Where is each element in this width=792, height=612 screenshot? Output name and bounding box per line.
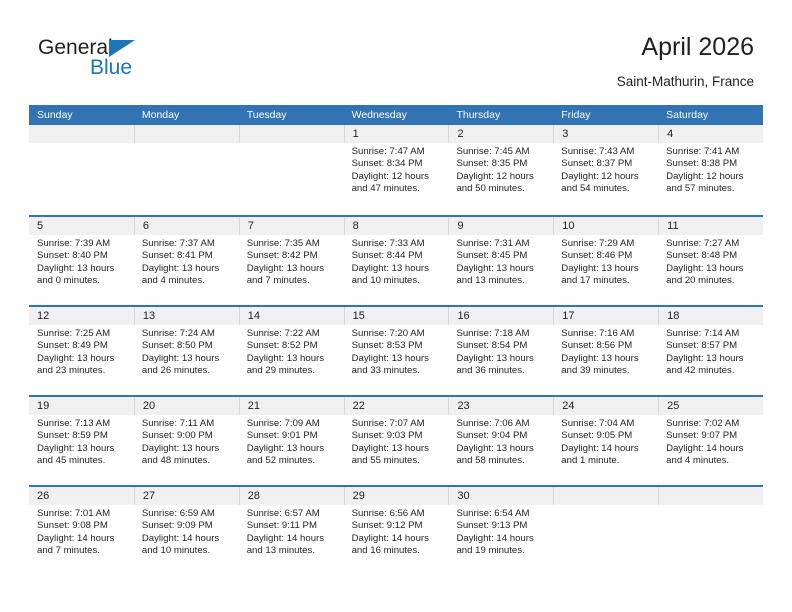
sunrise-text: Sunrise: 7:11 AM: [142, 418, 233, 430]
sunrise-text: Sunrise: 7:31 AM: [456, 238, 547, 250]
calendar-week-row: 12Sunrise: 7:25 AMSunset: 8:49 PMDayligh…: [29, 305, 763, 395]
calendar-day-cell-empty: [553, 487, 658, 575]
day-details: Sunrise: 7:25 AMSunset: 8:49 PMDaylight:…: [29, 325, 134, 378]
sunset-text: Sunset: 8:45 PM: [456, 250, 547, 262]
sunset-text: Sunset: 9:05 PM: [561, 430, 652, 442]
day-number: 30: [448, 487, 553, 505]
sunrise-text: Sunrise: 7:18 AM: [456, 328, 547, 340]
dow-saturday: Saturday: [658, 105, 763, 125]
sunrise-text: Sunrise: 7:20 AM: [352, 328, 443, 340]
day-details: Sunrise: 6:54 AMSunset: 9:13 PMDaylight:…: [448, 505, 553, 558]
page-title: April 2026: [641, 33, 754, 62]
sunrise-text: Sunrise: 7:41 AM: [666, 146, 757, 158]
daylight-text: Daylight: 14 hours and 16 minutes.: [352, 533, 443, 558]
day-details: Sunrise: 7:01 AMSunset: 9:08 PMDaylight:…: [29, 505, 134, 558]
sunset-text: Sunset: 9:12 PM: [352, 520, 443, 532]
sunset-text: Sunset: 8:44 PM: [352, 250, 443, 262]
daylight-text: Daylight: 14 hours and 19 minutes.: [456, 533, 547, 558]
calendar-day-cell[interactable]: 11Sunrise: 7:27 AMSunset: 8:48 PMDayligh…: [658, 217, 763, 305]
daylight-text: Daylight: 13 hours and 23 minutes.: [37, 353, 128, 378]
calendar-day-cell[interactable]: 20Sunrise: 7:11 AMSunset: 9:00 PMDayligh…: [134, 397, 239, 485]
daylight-text: Daylight: 13 hours and 52 minutes.: [247, 443, 338, 468]
dow-thursday: Thursday: [448, 105, 553, 125]
sunrise-text: Sunrise: 6:54 AM: [456, 508, 547, 520]
calendar-day-cell[interactable]: 23Sunrise: 7:06 AMSunset: 9:04 PMDayligh…: [448, 397, 553, 485]
sunrise-text: Sunrise: 7:35 AM: [247, 238, 338, 250]
day-number: 16: [448, 307, 553, 325]
daylight-text: Daylight: 13 hours and 55 minutes.: [352, 443, 443, 468]
calendar-day-cell-empty: [29, 125, 134, 215]
calendar-day-cell[interactable]: 7Sunrise: 7:35 AMSunset: 8:42 PMDaylight…: [239, 217, 344, 305]
sunrise-text: Sunrise: 7:13 AM: [37, 418, 128, 430]
day-number: 23: [448, 397, 553, 415]
day-details: Sunrise: 7:45 AMSunset: 8:35 PMDaylight:…: [448, 143, 553, 196]
day-number: 25: [658, 397, 763, 415]
day-number: 9: [448, 217, 553, 235]
day-details: Sunrise: 7:18 AMSunset: 8:54 PMDaylight:…: [448, 325, 553, 378]
day-details: Sunrise: 7:22 AMSunset: 8:52 PMDaylight:…: [239, 325, 344, 378]
day-number: 2: [448, 125, 553, 143]
calendar-day-cell[interactable]: 27Sunrise: 6:59 AMSunset: 9:09 PMDayligh…: [134, 487, 239, 575]
calendar-day-cell[interactable]: 19Sunrise: 7:13 AMSunset: 8:59 PMDayligh…: [29, 397, 134, 485]
day-details: Sunrise: 7:47 AMSunset: 8:34 PMDaylight:…: [344, 143, 449, 196]
day-number: 11: [658, 217, 763, 235]
sunrise-text: Sunrise: 7:33 AM: [352, 238, 443, 250]
day-number: 27: [134, 487, 239, 505]
daylight-text: Daylight: 13 hours and 10 minutes.: [352, 263, 443, 288]
calendar-day-cell[interactable]: 6Sunrise: 7:37 AMSunset: 8:41 PMDaylight…: [134, 217, 239, 305]
daylight-text: Daylight: 13 hours and 20 minutes.: [666, 263, 757, 288]
day-details: Sunrise: 7:02 AMSunset: 9:07 PMDaylight:…: [658, 415, 763, 468]
calendar-day-cell[interactable]: 21Sunrise: 7:09 AMSunset: 9:01 PMDayligh…: [239, 397, 344, 485]
day-number: 3: [553, 125, 658, 143]
sunset-text: Sunset: 8:59 PM: [37, 430, 128, 442]
daylight-text: Daylight: 13 hours and 39 minutes.: [561, 353, 652, 378]
sunrise-text: Sunrise: 7:24 AM: [142, 328, 233, 340]
sunrise-text: Sunrise: 7:16 AM: [561, 328, 652, 340]
sunrise-text: Sunrise: 7:07 AM: [352, 418, 443, 430]
sunset-text: Sunset: 8:46 PM: [561, 250, 652, 262]
day-number: [553, 487, 658, 505]
day-details: Sunrise: 7:41 AMSunset: 8:38 PMDaylight:…: [658, 143, 763, 196]
calendar-page: General Blue April 2026 Saint-Mathurin, …: [0, 0, 792, 612]
sunset-text: Sunset: 8:37 PM: [561, 158, 652, 170]
calendar-day-cell[interactable]: 13Sunrise: 7:24 AMSunset: 8:50 PMDayligh…: [134, 307, 239, 395]
sunset-text: Sunset: 8:54 PM: [456, 340, 547, 352]
calendar-day-cell[interactable]: 17Sunrise: 7:16 AMSunset: 8:56 PMDayligh…: [553, 307, 658, 395]
sunset-text: Sunset: 9:08 PM: [37, 520, 128, 532]
calendar-day-cell[interactable]: 18Sunrise: 7:14 AMSunset: 8:57 PMDayligh…: [658, 307, 763, 395]
day-number: 14: [239, 307, 344, 325]
day-details: Sunrise: 7:37 AMSunset: 8:41 PMDaylight:…: [134, 235, 239, 288]
calendar-day-cell[interactable]: 3Sunrise: 7:43 AMSunset: 8:37 PMDaylight…: [553, 125, 658, 215]
daylight-text: Daylight: 14 hours and 10 minutes.: [142, 533, 233, 558]
sunrise-text: Sunrise: 7:37 AM: [142, 238, 233, 250]
day-of-week-header-row: Sunday Monday Tuesday Wednesday Thursday…: [29, 105, 763, 125]
month-calendar: Sunday Monday Tuesday Wednesday Thursday…: [29, 105, 763, 575]
sunset-text: Sunset: 9:09 PM: [142, 520, 233, 532]
calendar-day-cell[interactable]: 10Sunrise: 7:29 AMSunset: 8:46 PMDayligh…: [553, 217, 658, 305]
dow-wednesday: Wednesday: [344, 105, 449, 125]
day-details: Sunrise: 7:14 AMSunset: 8:57 PMDaylight:…: [658, 325, 763, 378]
day-number: 4: [658, 125, 763, 143]
day-details: Sunrise: 7:29 AMSunset: 8:46 PMDaylight:…: [553, 235, 658, 288]
day-details: Sunrise: 7:13 AMSunset: 8:59 PMDaylight:…: [29, 415, 134, 468]
day-number: 12: [29, 307, 134, 325]
day-number: [239, 125, 344, 143]
calendar-day-cell[interactable]: 16Sunrise: 7:18 AMSunset: 8:54 PMDayligh…: [448, 307, 553, 395]
sunrise-text: Sunrise: 7:22 AM: [247, 328, 338, 340]
day-number: 10: [553, 217, 658, 235]
calendar-week-row: 26Sunrise: 7:01 AMSunset: 9:08 PMDayligh…: [29, 485, 763, 575]
calendar-day-cell[interactable]: 30Sunrise: 6:54 AMSunset: 9:13 PMDayligh…: [448, 487, 553, 575]
sunset-text: Sunset: 8:56 PM: [561, 340, 652, 352]
calendar-day-cell[interactable]: 2Sunrise: 7:45 AMSunset: 8:35 PMDaylight…: [448, 125, 553, 215]
day-number: 5: [29, 217, 134, 235]
day-details: Sunrise: 7:31 AMSunset: 8:45 PMDaylight:…: [448, 235, 553, 288]
sunrise-text: Sunrise: 7:02 AM: [666, 418, 757, 430]
daylight-text: Daylight: 12 hours and 50 minutes.: [456, 171, 547, 196]
day-details: Sunrise: 7:20 AMSunset: 8:53 PMDaylight:…: [344, 325, 449, 378]
calendar-week-row: 19Sunrise: 7:13 AMSunset: 8:59 PMDayligh…: [29, 395, 763, 485]
day-details: Sunrise: 7:11 AMSunset: 9:00 PMDaylight:…: [134, 415, 239, 468]
sunrise-text: Sunrise: 7:43 AM: [561, 146, 652, 158]
logo-text-blue: Blue: [90, 56, 132, 80]
calendar-day-cell[interactable]: 5Sunrise: 7:39 AMSunset: 8:40 PMDaylight…: [29, 217, 134, 305]
day-number: 21: [239, 397, 344, 415]
calendar-day-cell[interactable]: 14Sunrise: 7:22 AMSunset: 8:52 PMDayligh…: [239, 307, 344, 395]
calendar-day-cell-empty: [239, 125, 344, 215]
dow-sunday: Sunday: [29, 105, 134, 125]
daylight-text: Daylight: 12 hours and 57 minutes.: [666, 171, 757, 196]
page-header: General Blue April 2026 Saint-Mathurin, …: [0, 0, 792, 96]
day-details: Sunrise: 7:27 AMSunset: 8:48 PMDaylight:…: [658, 235, 763, 288]
day-number: 28: [239, 487, 344, 505]
daylight-text: Daylight: 12 hours and 54 minutes.: [561, 171, 652, 196]
daylight-text: Daylight: 14 hours and 1 minute.: [561, 443, 652, 468]
daylight-text: Daylight: 12 hours and 47 minutes.: [352, 171, 443, 196]
sunrise-text: Sunrise: 7:09 AM: [247, 418, 338, 430]
calendar-day-cell[interactable]: 26Sunrise: 7:01 AMSunset: 9:08 PMDayligh…: [29, 487, 134, 575]
day-number: 13: [134, 307, 239, 325]
sunrise-text: Sunrise: 7:27 AM: [666, 238, 757, 250]
daylight-text: Daylight: 14 hours and 7 minutes.: [37, 533, 128, 558]
day-number: [658, 487, 763, 505]
sunrise-text: Sunrise: 7:25 AM: [37, 328, 128, 340]
daylight-text: Daylight: 13 hours and 29 minutes.: [247, 353, 338, 378]
calendar-day-cell[interactable]: 4Sunrise: 7:41 AMSunset: 8:38 PMDaylight…: [658, 125, 763, 215]
sunset-text: Sunset: 8:35 PM: [456, 158, 547, 170]
sunset-text: Sunset: 9:07 PM: [666, 430, 757, 442]
daylight-text: Daylight: 13 hours and 7 minutes.: [247, 263, 338, 288]
day-number: 20: [134, 397, 239, 415]
sunset-text: Sunset: 9:04 PM: [456, 430, 547, 442]
calendar-day-cell-empty: [134, 125, 239, 215]
day-number: 26: [29, 487, 134, 505]
dow-friday: Friday: [553, 105, 658, 125]
sunrise-text: Sunrise: 7:06 AM: [456, 418, 547, 430]
day-number: 7: [239, 217, 344, 235]
sunset-text: Sunset: 8:38 PM: [666, 158, 757, 170]
day-number: 6: [134, 217, 239, 235]
daylight-text: Daylight: 13 hours and 42 minutes.: [666, 353, 757, 378]
daylight-text: Daylight: 13 hours and 58 minutes.: [456, 443, 547, 468]
sunset-text: Sunset: 8:52 PM: [247, 340, 338, 352]
day-details: Sunrise: 6:59 AMSunset: 9:09 PMDaylight:…: [134, 505, 239, 558]
calendar-day-cell[interactable]: 25Sunrise: 7:02 AMSunset: 9:07 PMDayligh…: [658, 397, 763, 485]
day-number: 8: [344, 217, 449, 235]
day-number: 15: [344, 307, 449, 325]
calendar-day-cell[interactable]: 12Sunrise: 7:25 AMSunset: 8:49 PMDayligh…: [29, 307, 134, 395]
sunrise-text: Sunrise: 7:47 AM: [352, 146, 443, 158]
sunset-text: Sunset: 9:03 PM: [352, 430, 443, 442]
day-details: Sunrise: 7:16 AMSunset: 8:56 PMDaylight:…: [553, 325, 658, 378]
day-details: Sunrise: 6:56 AMSunset: 9:12 PMDaylight:…: [344, 505, 449, 558]
daylight-text: Daylight: 13 hours and 17 minutes.: [561, 263, 652, 288]
blue-triangle-icon: [109, 40, 135, 57]
day-number: [29, 125, 134, 143]
page-subtitle-location: Saint-Mathurin, France: [617, 74, 754, 89]
calendar-day-cell[interactable]: 24Sunrise: 7:04 AMSunset: 9:05 PMDayligh…: [553, 397, 658, 485]
calendar-day-cell[interactable]: 15Sunrise: 7:20 AMSunset: 8:53 PMDayligh…: [344, 307, 449, 395]
day-details: Sunrise: 7:43 AMSunset: 8:37 PMDaylight:…: [553, 143, 658, 196]
day-details: Sunrise: 7:35 AMSunset: 8:42 PMDaylight:…: [239, 235, 344, 288]
day-number: 17: [553, 307, 658, 325]
calendar-day-cell[interactable]: 29Sunrise: 6:56 AMSunset: 9:12 PMDayligh…: [344, 487, 449, 575]
day-details: Sunrise: 7:24 AMSunset: 8:50 PMDaylight:…: [134, 325, 239, 378]
day-number: 22: [344, 397, 449, 415]
sunset-text: Sunset: 9:01 PM: [247, 430, 338, 442]
sunset-text: Sunset: 8:53 PM: [352, 340, 443, 352]
day-details: Sunrise: 7:06 AMSunset: 9:04 PMDaylight:…: [448, 415, 553, 468]
sunrise-text: Sunrise: 7:29 AM: [561, 238, 652, 250]
sunset-text: Sunset: 9:11 PM: [247, 520, 338, 532]
daylight-text: Daylight: 13 hours and 36 minutes.: [456, 353, 547, 378]
calendar-day-cell[interactable]: 1Sunrise: 7:47 AMSunset: 8:34 PMDaylight…: [344, 125, 449, 215]
sunset-text: Sunset: 8:49 PM: [37, 340, 128, 352]
calendar-week-row: 5Sunrise: 7:39 AMSunset: 8:40 PMDaylight…: [29, 215, 763, 305]
sunset-text: Sunset: 8:48 PM: [666, 250, 757, 262]
day-details: Sunrise: 7:39 AMSunset: 8:40 PMDaylight:…: [29, 235, 134, 288]
day-details: Sunrise: 7:04 AMSunset: 9:05 PMDaylight:…: [553, 415, 658, 468]
daylight-text: Daylight: 14 hours and 13 minutes.: [247, 533, 338, 558]
daylight-text: Daylight: 14 hours and 4 minutes.: [666, 443, 757, 468]
day-details: Sunrise: 7:07 AMSunset: 9:03 PMDaylight:…: [344, 415, 449, 468]
sunset-text: Sunset: 8:42 PM: [247, 250, 338, 262]
daylight-text: Daylight: 13 hours and 48 minutes.: [142, 443, 233, 468]
daylight-text: Daylight: 13 hours and 0 minutes.: [37, 263, 128, 288]
sunrise-text: Sunrise: 7:04 AM: [561, 418, 652, 430]
sunrise-text: Sunrise: 6:57 AM: [247, 508, 338, 520]
sunrise-text: Sunrise: 6:59 AM: [142, 508, 233, 520]
calendar-weeks: 1Sunrise: 7:47 AMSunset: 8:34 PMDaylight…: [29, 125, 763, 575]
dow-tuesday: Tuesday: [239, 105, 344, 125]
day-number: [134, 125, 239, 143]
sunrise-text: Sunrise: 7:45 AM: [456, 146, 547, 158]
daylight-text: Daylight: 13 hours and 26 minutes.: [142, 353, 233, 378]
sunset-text: Sunset: 9:00 PM: [142, 430, 233, 442]
calendar-day-cell[interactable]: 22Sunrise: 7:07 AMSunset: 9:03 PMDayligh…: [344, 397, 449, 485]
sunset-text: Sunset: 8:40 PM: [37, 250, 128, 262]
sunrise-text: Sunrise: 7:01 AM: [37, 508, 128, 520]
calendar-day-cell[interactable]: 28Sunrise: 6:57 AMSunset: 9:11 PMDayligh…: [239, 487, 344, 575]
sunset-text: Sunset: 8:50 PM: [142, 340, 233, 352]
calendar-day-cell-empty: [658, 487, 763, 575]
sunrise-text: Sunrise: 6:56 AM: [352, 508, 443, 520]
day-number: 1: [344, 125, 449, 143]
daylight-text: Daylight: 13 hours and 45 minutes.: [37, 443, 128, 468]
sunset-text: Sunset: 8:41 PM: [142, 250, 233, 262]
day-number: 18: [658, 307, 763, 325]
day-details: Sunrise: 7:09 AMSunset: 9:01 PMDaylight:…: [239, 415, 344, 468]
day-number: 24: [553, 397, 658, 415]
day-number: 19: [29, 397, 134, 415]
day-number: 29: [344, 487, 449, 505]
daylight-text: Daylight: 13 hours and 13 minutes.: [456, 263, 547, 288]
daylight-text: Daylight: 13 hours and 4 minutes.: [142, 263, 233, 288]
sunrise-text: Sunrise: 7:39 AM: [37, 238, 128, 250]
general-blue-logo[interactable]: General Blue: [38, 36, 218, 90]
sunset-text: Sunset: 8:34 PM: [352, 158, 443, 170]
day-details: Sunrise: 7:33 AMSunset: 8:44 PMDaylight:…: [344, 235, 449, 288]
sunset-text: Sunset: 9:13 PM: [456, 520, 547, 532]
dow-monday: Monday: [134, 105, 239, 125]
calendar-day-cell[interactable]: 9Sunrise: 7:31 AMSunset: 8:45 PMDaylight…: [448, 217, 553, 305]
sunset-text: Sunset: 8:57 PM: [666, 340, 757, 352]
day-details: Sunrise: 6:57 AMSunset: 9:11 PMDaylight:…: [239, 505, 344, 558]
daylight-text: Daylight: 13 hours and 33 minutes.: [352, 353, 443, 378]
calendar-day-cell[interactable]: 8Sunrise: 7:33 AMSunset: 8:44 PMDaylight…: [344, 217, 449, 305]
calendar-week-row: 1Sunrise: 7:47 AMSunset: 8:34 PMDaylight…: [29, 125, 763, 215]
sunrise-text: Sunrise: 7:14 AM: [666, 328, 757, 340]
